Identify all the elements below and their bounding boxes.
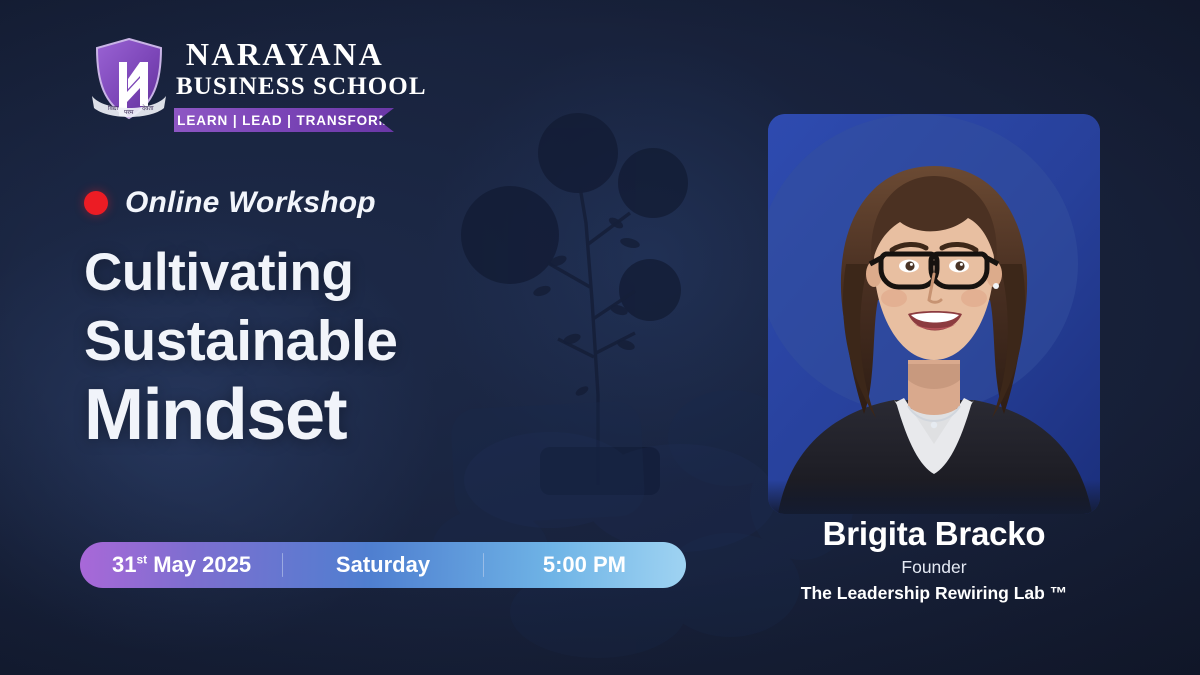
narayana-shield-logo-icon: विद्या परम देवता <box>88 34 170 134</box>
event-title-line-1: Cultivating <box>84 246 397 299</box>
workshop-poster: विद्या परम देवता NARAYANA BUSINESS SCHOO… <box>0 0 1200 675</box>
speaker-info: Brigita Bracko Founder The Leadership Re… <box>768 516 1100 604</box>
event-date-number: 31 <box>112 552 136 577</box>
brand-logo[interactable]: विद्या परम देवता NARAYANA BUSINESS SCHOO… <box>88 34 393 139</box>
event-kicker: Online Workshop <box>84 186 376 220</box>
svg-text:विद्या: विद्या <box>108 104 119 112</box>
event-day: Saturday <box>283 552 483 578</box>
brand-tagline-text: LEARN | LEAD | TRANSFORM <box>177 113 391 128</box>
event-schedule-pill: 31st May 2025 Saturday 5:00 PM <box>80 542 686 588</box>
live-dot-icon <box>84 191 108 215</box>
svg-text:देवता: देवता <box>142 104 154 112</box>
speaker-name: Brigita Bracko <box>768 516 1100 552</box>
event-title: Cultivating Sustainable Mindset <box>84 246 397 451</box>
brand-name-line2: BUSINESS SCHOOL <box>176 74 394 99</box>
event-date-month-year: May 2025 <box>147 552 251 577</box>
svg-text:परम: परम <box>124 109 134 116</box>
photo-bottom-fade <box>768 480 1100 514</box>
event-date: 31st May 2025 <box>82 552 282 578</box>
brand-name-line1: NARAYANA <box>176 38 394 70</box>
speaker-portrait-illustration <box>768 114 1100 514</box>
speaker-organization: The Leadership Rewiring Lab ™ <box>768 583 1100 604</box>
brand-wordmark: NARAYANA BUSINESS SCHOOL <box>176 38 394 99</box>
event-date-suffix: st <box>136 553 147 567</box>
event-kicker-label: Online Workshop <box>125 186 376 220</box>
speaker-role: Founder <box>768 557 1100 578</box>
event-title-line-2: Sustainable <box>84 313 397 370</box>
event-title-line-3: Mindset <box>84 379 397 451</box>
brand-tagline-banner: LEARN | LEAD | TRANSFORM <box>174 108 394 132</box>
speaker-photo <box>768 114 1100 514</box>
plant-silhouette-icon <box>430 95 810 495</box>
event-time: 5:00 PM <box>484 552 684 578</box>
